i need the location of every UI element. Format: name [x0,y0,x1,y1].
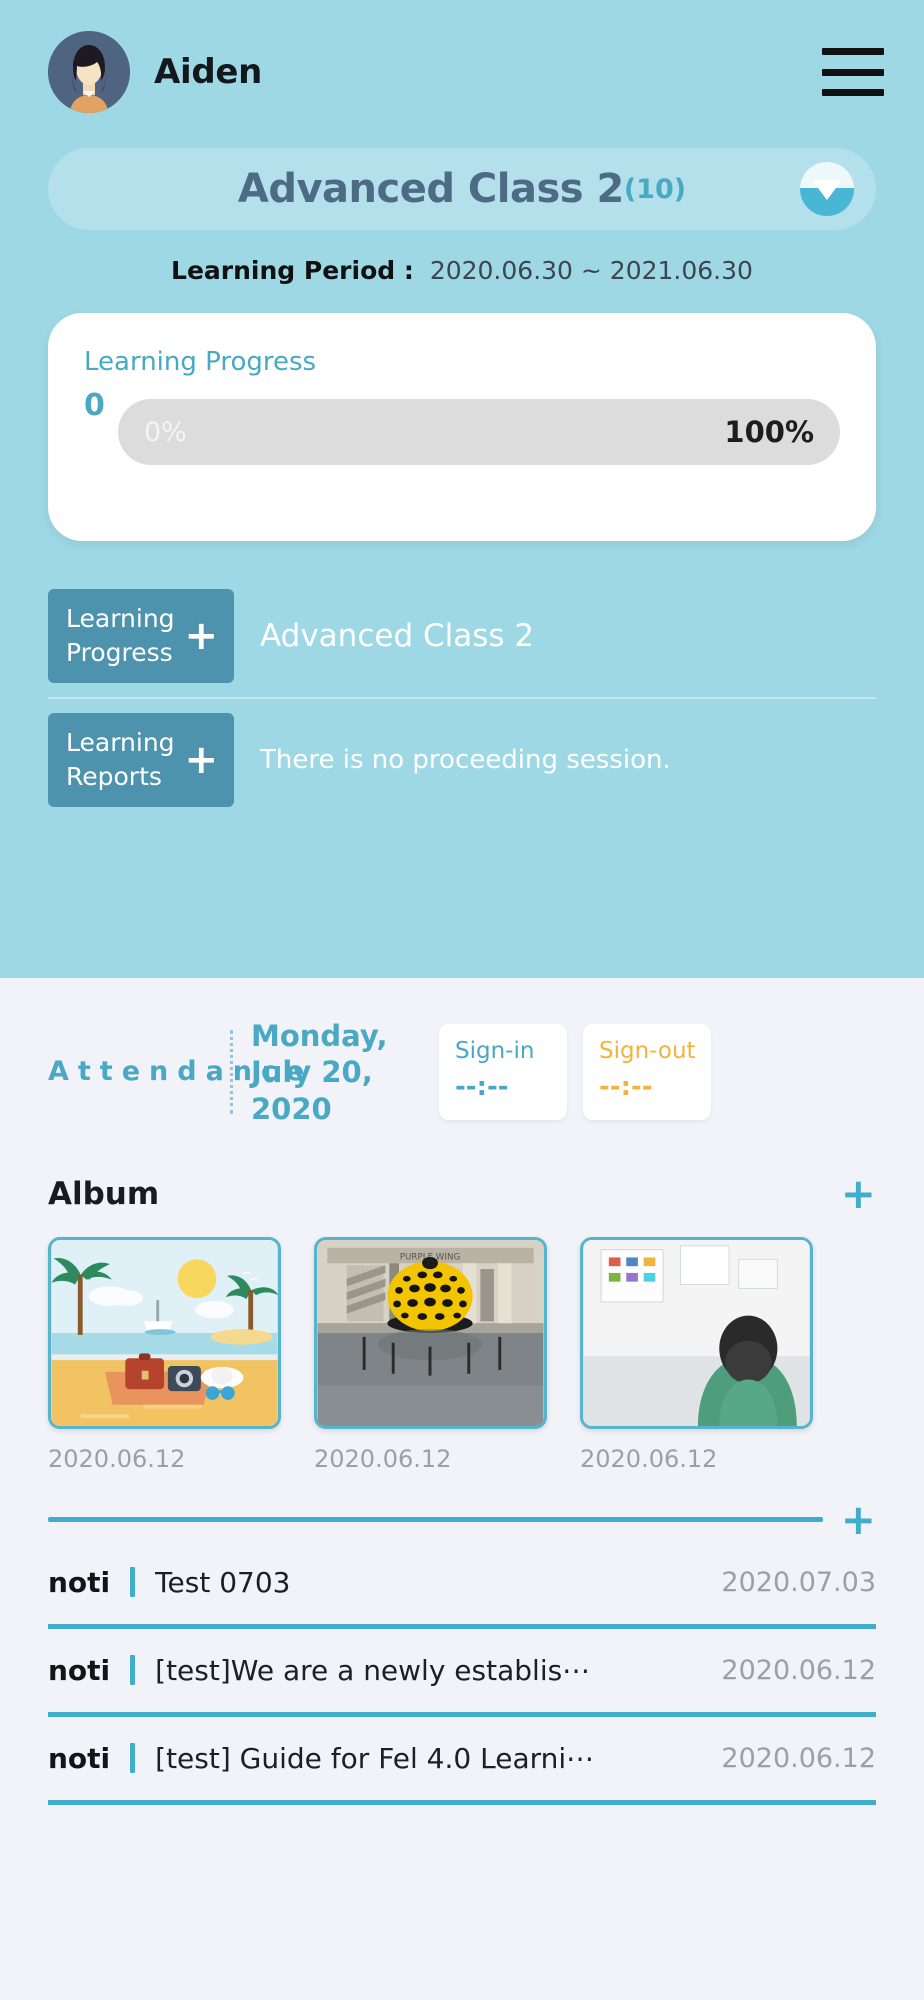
album-item[interactable]: PURPLE WING [314,1237,547,1473]
lower-panel: Attendance Monday, July 20, 2020 Sign-in… [0,978,924,1805]
notice-separator [130,1743,135,1773]
notice-row[interactable]: noti [test] Guide for Fel 4.0 Learni⋯ 20… [48,1717,876,1805]
quick-link-text: Advanced Class 2 [260,618,534,654]
album-date: 2020.06.12 [48,1445,281,1473]
notice-separator [130,1655,135,1685]
notice-add-button[interactable]: + [841,1499,876,1541]
notice-separator [130,1567,135,1597]
sign-in-time: --:-- [455,1072,567,1102]
class-selector[interactable]: Advanced Class 2 (10) [48,148,876,230]
app-header: Aiden [0,0,924,120]
user-name: Aiden [154,52,262,92]
chip-label: Learning Reports [66,726,178,794]
classroom-photo [583,1240,810,1426]
notice-divider [48,1517,823,1522]
hamburger-line [822,48,884,55]
quick-links: Learning Progress + Advanced Class 2 Lea… [48,575,876,821]
album-date: 2020.06.12 [314,1445,547,1473]
quick-link-text: There is no proceeding session. [260,745,671,775]
learning-progress-button[interactable]: Learning Progress + [48,589,234,683]
learning-period-label: Learning Period : [171,256,414,285]
progress-value: 0 [84,385,118,427]
notice-title: [test]We are a newly establis⋯ [155,1654,721,1687]
album-thumbnail[interactable]: PURPLE WING [314,1237,547,1429]
sign-out-card[interactable]: Sign-out --:-- [583,1024,711,1120]
notice-date: 2020.06.12 [721,1743,876,1774]
learning-period-value: 2020.06.30 ~ 2021.06.30 [430,256,753,285]
learning-period: Learning Period : 2020.06.30 ~ 2021.06.3… [0,256,924,285]
chevron-triangle [812,180,842,200]
attendance-label: Attendance [48,1054,226,1090]
attendance-section: Attendance Monday, July 20, 2020 Sign-in… [48,978,876,1127]
notice-tag: noti [48,1742,110,1775]
hamburger-line [822,89,884,96]
album-title: Album [48,1176,159,1212]
plus-icon: + [184,616,218,656]
notice-tag: noti [48,1654,110,1687]
attendance-date: Monday, July 20, 2020 [251,1018,423,1127]
progress-row: 0 0% 100% [84,385,840,465]
progress-bar[interactable]: 0% 100% [118,399,840,465]
album-thumbnail[interactable] [580,1237,813,1429]
avatar[interactable] [48,31,130,113]
chip-label: Learning Progress [66,602,178,670]
top-panel: Aiden Advanced Class 2 (10) Learning Per… [0,0,924,978]
notice-date: 2020.06.12 [721,1655,876,1686]
chevron-down-icon[interactable] [800,162,854,216]
attendance-divider [230,1030,233,1114]
quick-link-row[interactable]: Learning Reports + There is no proceedin… [48,697,876,821]
sign-in-card[interactable]: Sign-in --:-- [439,1024,567,1120]
sign-in-label: Sign-in [455,1038,567,1064]
learning-progress-card: Learning Progress 0 0% 100% [48,313,876,541]
album-item[interactable]: 2020.06.12 [48,1237,281,1473]
notice-tag: noti [48,1566,110,1599]
app-screen: Aiden Advanced Class 2 (10) Learning Per… [0,0,924,2000]
album-thumbnail[interactable] [48,1237,281,1429]
progress-min-label: 0% [144,417,187,448]
learning-reports-button[interactable]: Learning Reports + [48,713,234,807]
notice-title: Test 0703 [155,1566,721,1599]
notice-title: [test] Guide for Fel 4.0 Learni⋯ [155,1742,721,1775]
beach-illustration-photo [51,1240,278,1426]
album-header: Album + [48,1173,876,1215]
class-name: Advanced Class 2 [238,166,624,212]
progress-title: Learning Progress [84,347,840,377]
notice-row[interactable]: noti [test]We are a newly establis⋯ 2020… [48,1629,876,1717]
hamburger-menu-icon[interactable] [822,48,884,96]
quick-link-row[interactable]: Learning Progress + Advanced Class 2 [48,575,876,697]
progress-max-label: 100% [724,415,814,449]
hamburger-line [822,69,884,76]
album-strip[interactable]: 2020.06.12 PURPLE WING [48,1237,876,1473]
notice-date: 2020.07.03 [721,1567,876,1598]
album-date: 2020.06.12 [580,1445,813,1473]
plus-icon: + [184,740,218,780]
sign-out-label: Sign-out [599,1038,711,1064]
album-add-button[interactable]: + [841,1173,876,1215]
sign-out-time: --:-- [599,1072,711,1102]
pumpkin-sculpture-photo: PURPLE WING [317,1240,544,1426]
notice-row[interactable]: noti Test 0703 2020.07.03 [48,1541,876,1629]
notice-header: + [48,1499,876,1541]
user-avatar-icon [48,31,130,113]
album-item[interactable]: 2020.06.12 [580,1237,813,1473]
class-count: (10) [624,174,686,205]
